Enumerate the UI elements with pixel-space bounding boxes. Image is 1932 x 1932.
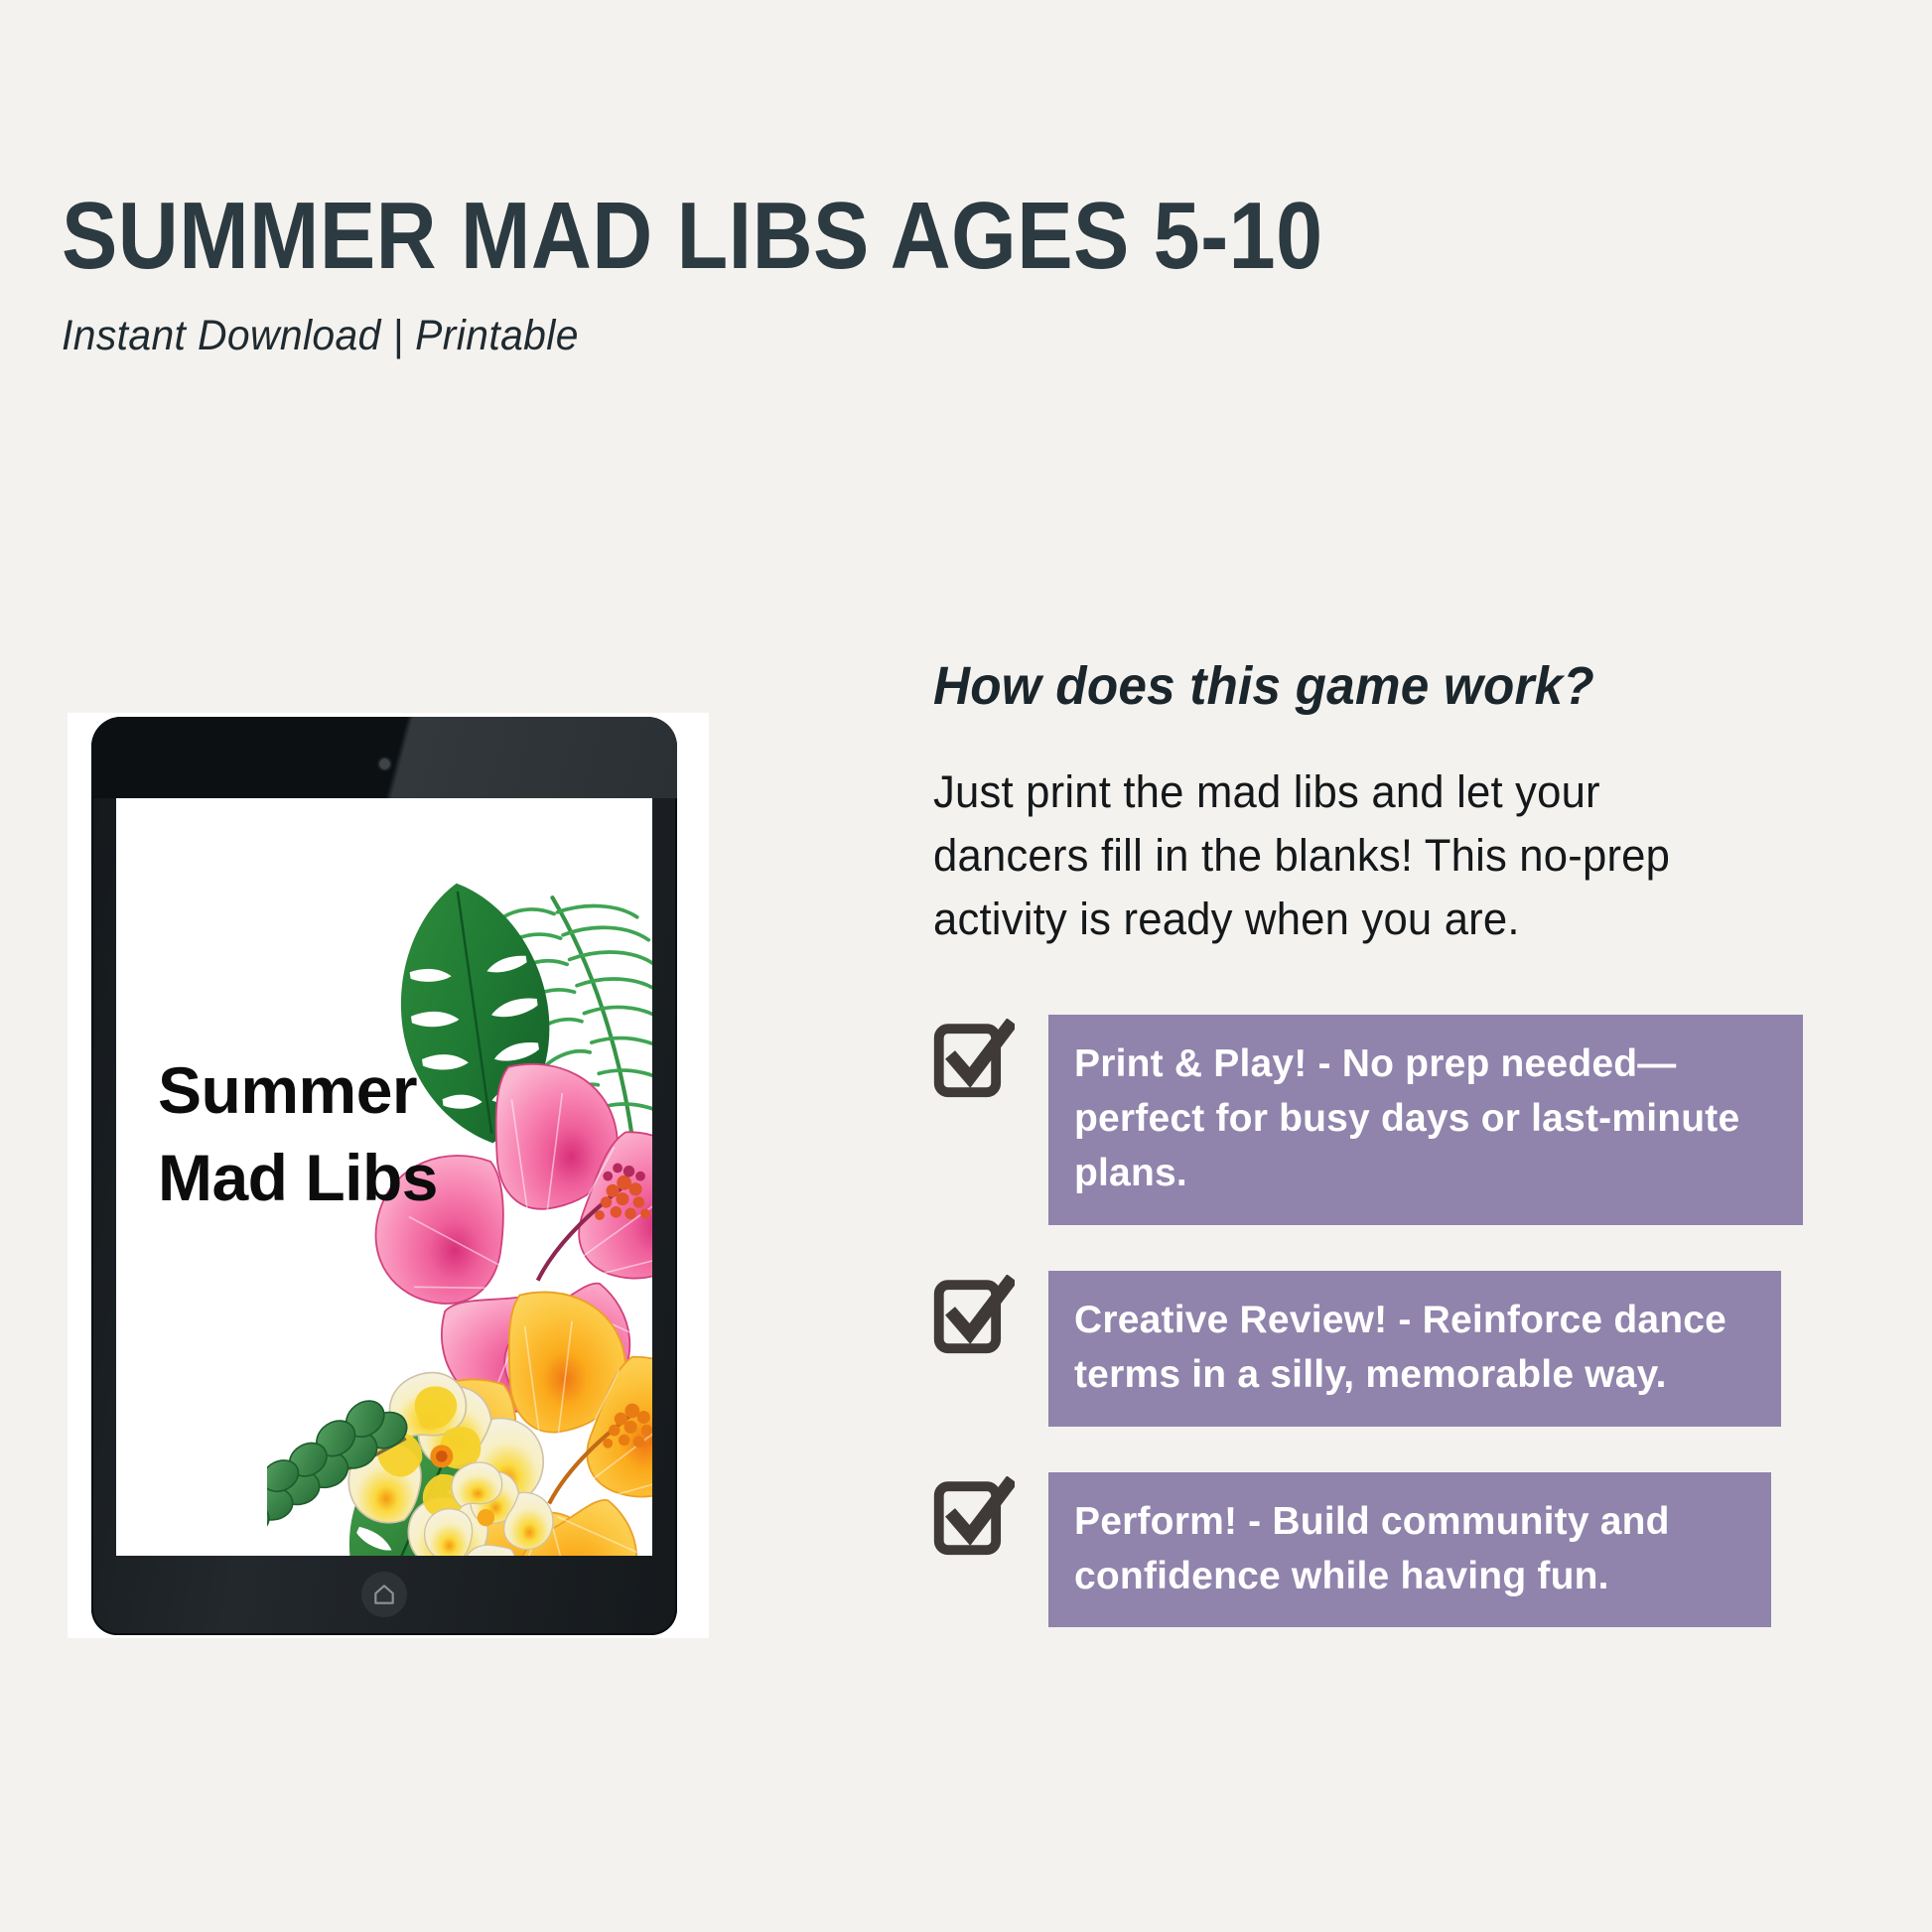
page-subtitle: Instant Download | Printable: [62, 312, 1571, 360]
camera-icon: [379, 759, 390, 769]
benefit-label: Creative Review! - Reinforce dance terms…: [1048, 1271, 1781, 1427]
tablet-device-mockup: Summer Mad Libs: [91, 717, 677, 1635]
benefit-item: Print & Play! - No prep needed—perfect f…: [933, 1015, 1827, 1225]
cover-title: Summer Mad Libs: [158, 1046, 438, 1222]
benefit-list: Print & Play! - No prep needed—perfect f…: [933, 1015, 1827, 1628]
cover-title-line-1: Summer: [158, 1046, 438, 1134]
benefit-item: Perform! - Build community and confidenc…: [933, 1472, 1827, 1628]
benefit-label: Print & Play! - No prep needed—perfect f…: [1048, 1015, 1803, 1225]
home-icon: [371, 1582, 397, 1607]
intro-paragraph: Just print the mad libs and let your dan…: [933, 760, 1747, 951]
tablet-top-bezel: [91, 717, 677, 798]
home-button[interactable]: [361, 1572, 407, 1617]
checkbox-checked-icon: [933, 1019, 1015, 1104]
tablet-screen: Summer Mad Libs: [116, 798, 652, 1556]
benefit-label: Perform! - Build community and confidenc…: [1048, 1472, 1771, 1628]
details-panel: How does this game work? Just print the …: [933, 655, 1827, 1673]
benefit-item: Creative Review! - Reinforce dance terms…: [933, 1271, 1827, 1427]
product-preview-card: Summer Mad Libs: [68, 713, 709, 1638]
checkbox-checked-icon: [933, 1476, 1015, 1562]
header: SUMMER MAD LIBS AGES 5-10 Instant Downlo…: [62, 189, 1650, 360]
page-title: SUMMER MAD LIBS AGES 5-10: [62, 189, 1459, 284]
checkbox-checked-icon: [933, 1275, 1015, 1360]
cover-title-line-2: Mad Libs: [158, 1134, 438, 1221]
section-heading: How does this game work?: [933, 655, 1782, 717]
